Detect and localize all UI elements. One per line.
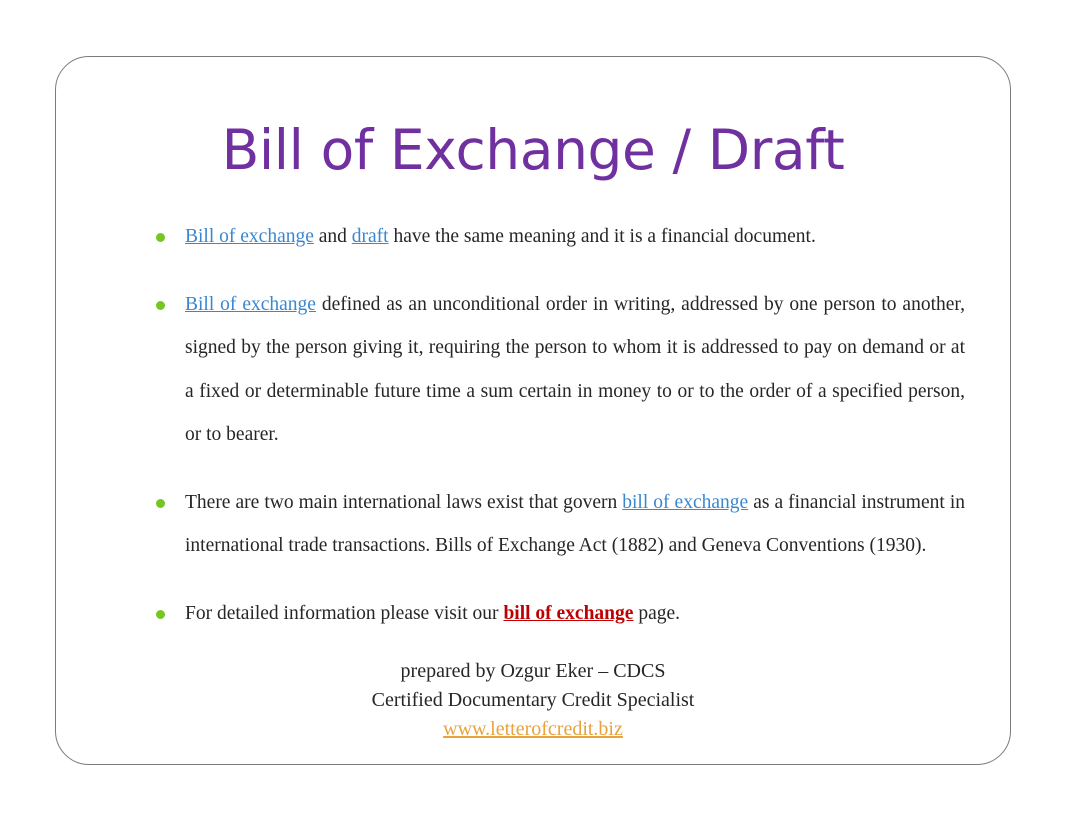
bullet-text: have the same meaning and it is a financ… xyxy=(389,226,816,247)
bullet-text: defined as an unconditional order in wri… xyxy=(185,294,965,446)
bullet-text: For detailed information please visit ou… xyxy=(185,603,503,624)
footer-credential: Certified Documentary Credit Specialist xyxy=(56,686,1010,715)
bullet-item: Bill of exchange defined as an unconditi… xyxy=(103,283,965,457)
bullet-text: and xyxy=(314,226,352,247)
bullet-text: page. xyxy=(633,603,680,624)
bullet-dot-icon xyxy=(156,610,165,619)
bullet-item: For detailed information please visit ou… xyxy=(103,592,965,636)
footer-author: prepared by Ozgur Eker – CDCS xyxy=(56,657,1010,686)
bullet-dot-icon xyxy=(156,301,165,310)
bullet-list: Bill of exchange and draft have the same… xyxy=(103,215,965,635)
inline-term-link[interactable]: Bill of exchange xyxy=(185,294,316,315)
inline-term-link[interactable]: Bill of exchange xyxy=(185,226,314,247)
footer-block: prepared by Ozgur Eker – CDCS Certified … xyxy=(56,657,1010,744)
page-title: Bill of Exchange / Draft xyxy=(56,122,1010,180)
slide-frame: Bill of Exchange / Draft Bill of exchang… xyxy=(55,56,1011,765)
inline-term-link[interactable]: draft xyxy=(352,226,389,247)
bullet-dot-icon xyxy=(156,233,165,242)
bullet-item: Bill of exchange and draft have the same… xyxy=(103,215,965,259)
bullet-dot-icon xyxy=(156,499,165,508)
bill-of-exchange-link[interactable]: bill of exchange xyxy=(503,603,633,624)
bullet-text: There are two main international laws ex… xyxy=(185,492,622,513)
footer-website-link[interactable]: www.letterofcredit.biz xyxy=(443,718,623,740)
bullet-item: There are two main international laws ex… xyxy=(103,481,965,568)
inline-term-link[interactable]: bill of exchange xyxy=(622,492,748,513)
